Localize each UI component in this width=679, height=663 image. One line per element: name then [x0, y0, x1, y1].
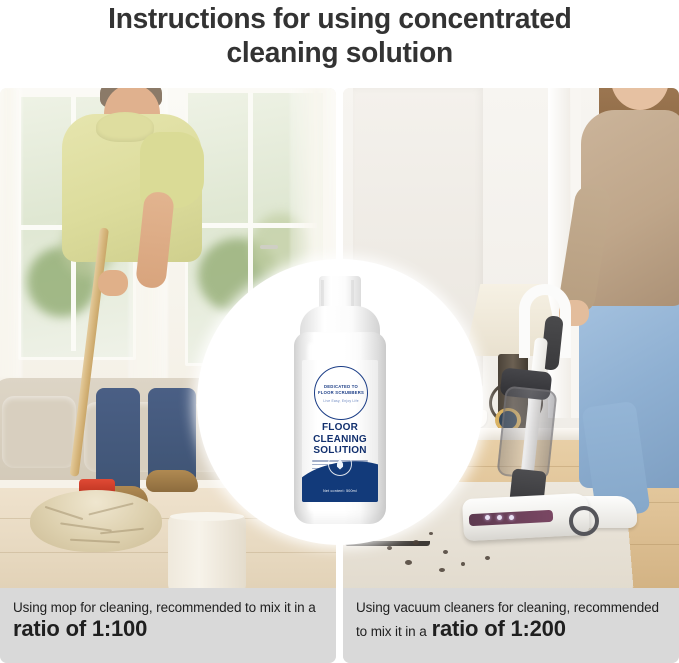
- product-name-line-2: CLEANING: [302, 434, 378, 446]
- vacuum-caption: Using vacuum cleaners for cleaning, reco…: [343, 588, 679, 663]
- bucket: [168, 516, 246, 588]
- mop-caption: Using mop for cleaning, recommended to m…: [0, 588, 336, 663]
- dirt-speck: [429, 532, 433, 535]
- mop-ratio-text: ratio of 1:100: [13, 616, 323, 642]
- mop-strand: [45, 506, 84, 520]
- dedicated-badge: DEDICATED TO FLOOR SCRUBBERS Live Easy, …: [314, 366, 368, 420]
- mop-strand: [70, 539, 120, 544]
- sofa-cushion: [2, 396, 76, 468]
- mop-caption-text: Using mop for cleaning, recommended to m…: [13, 599, 323, 616]
- product-bottle: DEDICATED TO FLOOR SCRUBBERS Live Easy, …: [282, 276, 398, 528]
- dirt-speck: [485, 556, 490, 560]
- mop-head: [30, 490, 162, 552]
- window-handle: [260, 245, 278, 249]
- vacuum-caption-text: Using vacuum cleaners for cleaning, reco…: [356, 599, 666, 616]
- vacuum-wheel: [569, 506, 599, 536]
- dirt-speck: [439, 568, 445, 572]
- water-drop-icon: [328, 452, 352, 476]
- vacuum-caption-row: to mix it in a ratio of 1:200: [356, 616, 666, 642]
- vacuum-caption-text-2: to mix it in a: [356, 623, 427, 640]
- man-hand: [98, 270, 128, 296]
- dirt-speck: [405, 560, 412, 565]
- dirt-speck: [387, 546, 392, 550]
- page-title: Instructions for using concentrated clea…: [0, 0, 679, 88]
- man-shoe: [146, 470, 198, 492]
- dirt-speck: [443, 550, 448, 554]
- mop-strand: [88, 502, 133, 515]
- dirt-speck: [461, 562, 465, 566]
- badge-tagline: Live Easy, Enjoy Life: [323, 399, 358, 403]
- dirt-speck: [413, 540, 419, 545]
- vacuum-ratio-text: ratio of 1:200: [432, 616, 566, 642]
- bottle-label: DEDICATED TO FLOOR SCRUBBERS Live Easy, …: [302, 360, 378, 502]
- page-title-line-2: cleaning solution: [226, 36, 452, 70]
- net-content-text: Net content: 500ml: [302, 489, 378, 493]
- mop-strand: [60, 522, 112, 531]
- product-name-line-1: FLOOR: [302, 422, 378, 434]
- badge-line-2: FLOOR SCRUBBERS: [318, 390, 364, 396]
- droplet-shape: [336, 459, 344, 470]
- vacuum-dust-canister: [496, 386, 557, 481]
- page-title-line-1: Instructions for using concentrated: [108, 2, 571, 36]
- bottle-cap: [319, 276, 361, 310]
- infographic-page: Instructions for using concentrated clea…: [0, 0, 679, 663]
- curtain-left: [0, 88, 22, 378]
